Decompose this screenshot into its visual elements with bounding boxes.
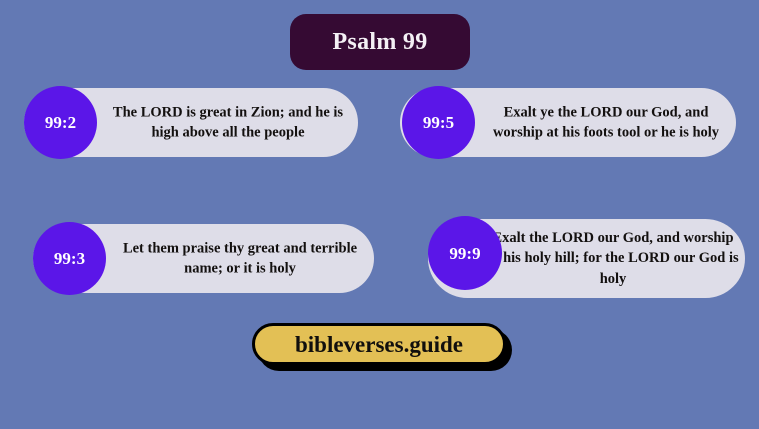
verse-card[interactable]: 99:5 Exalt ye the LORD our God, and wors…	[400, 88, 736, 157]
verse-reference-label: 99:5	[423, 114, 454, 131]
verse-card[interactable]: 99:9 Exalt the LORD our God, and worship…	[428, 219, 745, 298]
verse-reference-label: 99:9	[449, 245, 480, 262]
page-title-pill: Psalm 99	[290, 14, 470, 70]
site-watermark-label: bibleverses.guide	[295, 333, 463, 356]
verse-text: Exalt the LORD our God, and worship at h…	[486, 228, 740, 290]
verse-reference-badge: 99:5	[402, 86, 475, 159]
verse-reference-label: 99:3	[54, 250, 85, 267]
page-title: Psalm 99	[332, 30, 427, 54]
verse-reference-badge: 99:3	[33, 222, 106, 295]
site-watermark-button[interactable]: bibleverses.guide	[252, 323, 506, 365]
verse-text: Let them praise thy great and terrible n…	[113, 238, 367, 279]
verse-text: The LORD is great in Zion; and he is hig…	[104, 102, 352, 143]
poster-canvas: Psalm 99 99:2 The LORD is great in Zion;…	[0, 0, 759, 429]
verse-card[interactable]: 99:3 Let them praise thy great and terri…	[33, 224, 374, 293]
verse-card[interactable]: 99:2 The LORD is great in Zion; and he i…	[24, 88, 358, 157]
verse-reference-label: 99:2	[45, 114, 76, 131]
verse-text: Exalt ye the LORD our God, and worship a…	[482, 102, 730, 143]
verse-reference-badge: 99:2	[24, 86, 97, 159]
verse-reference-badge: 99:9	[428, 216, 502, 290]
